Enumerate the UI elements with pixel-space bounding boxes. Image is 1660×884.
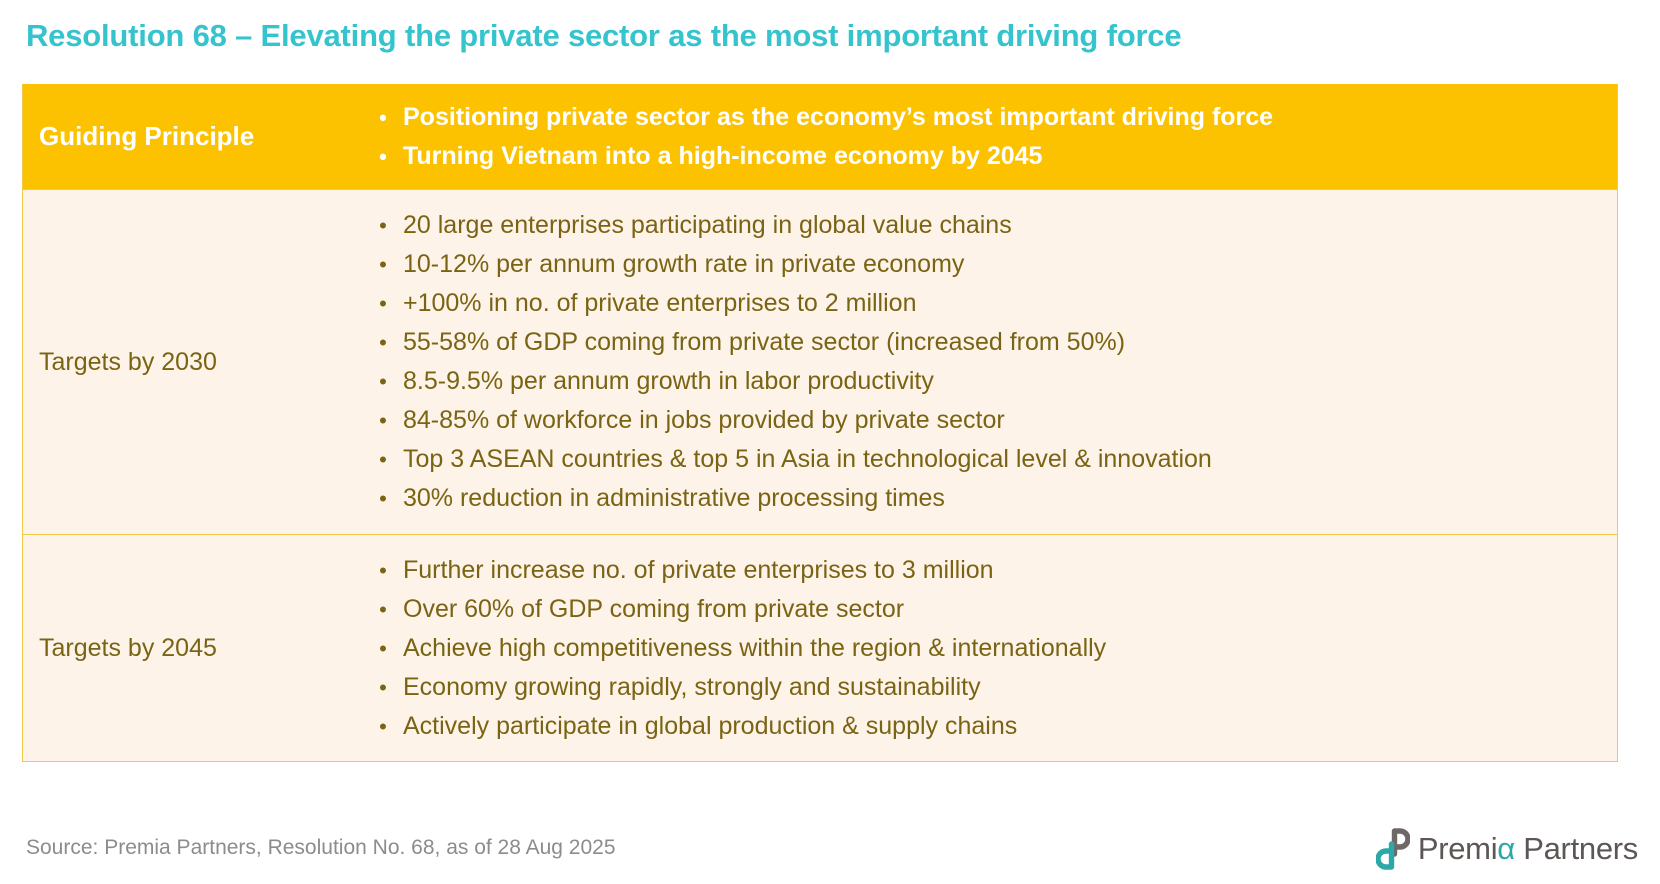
bullet-text: Economy growing rapidly, strongly and su… <box>403 668 1617 706</box>
bullet-dot-icon: • <box>363 246 403 284</box>
source-note: Source: Premia Partners, Resolution No. … <box>26 836 616 860</box>
logo-text-premi: Premi <box>1418 831 1497 866</box>
bullet-dot-icon: • <box>363 324 403 362</box>
row-label-guiding-principle: Guiding Principle <box>39 121 254 152</box>
bullet-text: Further increase no. of private enterpri… <box>403 551 1617 589</box>
list-item: • Economy growing rapidly, strongly and … <box>363 668 1617 707</box>
list-item: • Turning Vietnam into a high-income eco… <box>363 137 1617 176</box>
logo-text-partners: Partners <box>1523 831 1638 866</box>
bullet-dot-icon: • <box>363 591 403 629</box>
bullet-dot-icon: • <box>363 441 403 479</box>
bullet-text: 30% reduction in administrative processi… <box>403 479 1617 517</box>
premia-partners-logo: Premiα Partners <box>1376 828 1638 870</box>
row-label-cell: Targets by 2045 <box>23 535 363 761</box>
bullet-text: Positioning private sector as the econom… <box>403 98 1617 136</box>
bullet-dot-icon: • <box>363 99 403 137</box>
list-item: • 55-58% of GDP coming from private sect… <box>363 323 1617 362</box>
table-row-guiding-principle: Guiding Principle • Positioning private … <box>23 84 1617 189</box>
bullet-text: 8.5-9.5% per annum growth in labor produ… <box>403 362 1617 400</box>
bullet-text: Turning Vietnam into a high-income econo… <box>403 137 1617 175</box>
bullet-dot-icon: • <box>363 552 403 590</box>
bullet-dot-icon: • <box>363 708 403 746</box>
list-item: • Actively participate in global product… <box>363 707 1617 746</box>
bullet-text: Top 3 ASEAN countries & top 5 in Asia in… <box>403 440 1617 478</box>
list-item: • Further increase no. of private enterp… <box>363 551 1617 590</box>
table-row-targets-2030: Targets by 2030 • 20 large enterprises p… <box>23 189 1617 534</box>
page-title: Resolution 68 – Elevating the private se… <box>26 18 1626 54</box>
bullet-list-targets-2045: • Further increase no. of private enterp… <box>363 551 1617 746</box>
bullet-text: 84-85% of workforce in jobs provided by … <box>403 401 1617 439</box>
bullet-text: Achieve high competitiveness within the … <box>403 629 1617 667</box>
table-row-targets-2045: Targets by 2045 • Further increase no. o… <box>23 534 1617 761</box>
resolution-table: Guiding Principle • Positioning private … <box>22 84 1618 762</box>
row-label-targets-2030: Targets by 2030 <box>39 348 217 377</box>
bullet-dot-icon: • <box>363 285 403 323</box>
list-item: • Over 60% of GDP coming from private se… <box>363 590 1617 629</box>
row-content-cell: • Further increase no. of private enterp… <box>363 535 1617 761</box>
bullet-dot-icon: • <box>363 363 403 401</box>
bullet-text: 10-12% per annum growth rate in private … <box>403 245 1617 283</box>
row-content-cell: • 20 large enterprises participating in … <box>363 190 1617 534</box>
logo-alpha-glyph: α <box>1497 831 1515 866</box>
bullet-dot-icon: • <box>363 480 403 518</box>
premia-logo-mark-icon <box>1376 828 1410 870</box>
list-item: • 84-85% of workforce in jobs provided b… <box>363 401 1617 440</box>
bullet-text: 55-58% of GDP coming from private sector… <box>403 323 1617 361</box>
row-content-cell: • Positioning private sector as the econ… <box>363 92 1617 182</box>
bullet-text: Over 60% of GDP coming from private sect… <box>403 590 1617 628</box>
slide: Resolution 68 – Elevating the private se… <box>0 0 1660 884</box>
row-label-targets-2045: Targets by 2045 <box>39 634 217 663</box>
bullet-list-targets-2030: • 20 large enterprises participating in … <box>363 206 1617 518</box>
row-label-cell: Guiding Principle <box>23 121 363 152</box>
bullet-dot-icon: • <box>363 207 403 245</box>
row-label-cell: Targets by 2030 <box>23 190 363 534</box>
bullet-dot-icon: • <box>363 669 403 707</box>
list-item: • 30% reduction in administrative proces… <box>363 479 1617 518</box>
logo-wordmark: Premiα Partners <box>1418 831 1638 867</box>
bullet-text: 20 large enterprises participating in gl… <box>403 206 1617 244</box>
list-item: • Top 3 ASEAN countries & top 5 in Asia … <box>363 440 1617 479</box>
list-item: • 20 large enterprises participating in … <box>363 206 1617 245</box>
bullet-dot-icon: • <box>363 630 403 668</box>
list-item: • Achieve high competitiveness within th… <box>363 629 1617 668</box>
list-item: • 8.5-9.5% per annum growth in labor pro… <box>363 362 1617 401</box>
bullet-dot-icon: • <box>363 138 403 176</box>
bullet-text: Actively participate in global productio… <box>403 707 1617 745</box>
bullet-list-guiding-principle: • Positioning private sector as the econ… <box>363 98 1617 176</box>
list-item: • +100% in no. of private enterprises to… <box>363 284 1617 323</box>
bullet-text: +100% in no. of private enterprises to 2… <box>403 284 1617 322</box>
list-item: • Positioning private sector as the econ… <box>363 98 1617 137</box>
list-item: • 10-12% per annum growth rate in privat… <box>363 245 1617 284</box>
bullet-dot-icon: • <box>363 402 403 440</box>
